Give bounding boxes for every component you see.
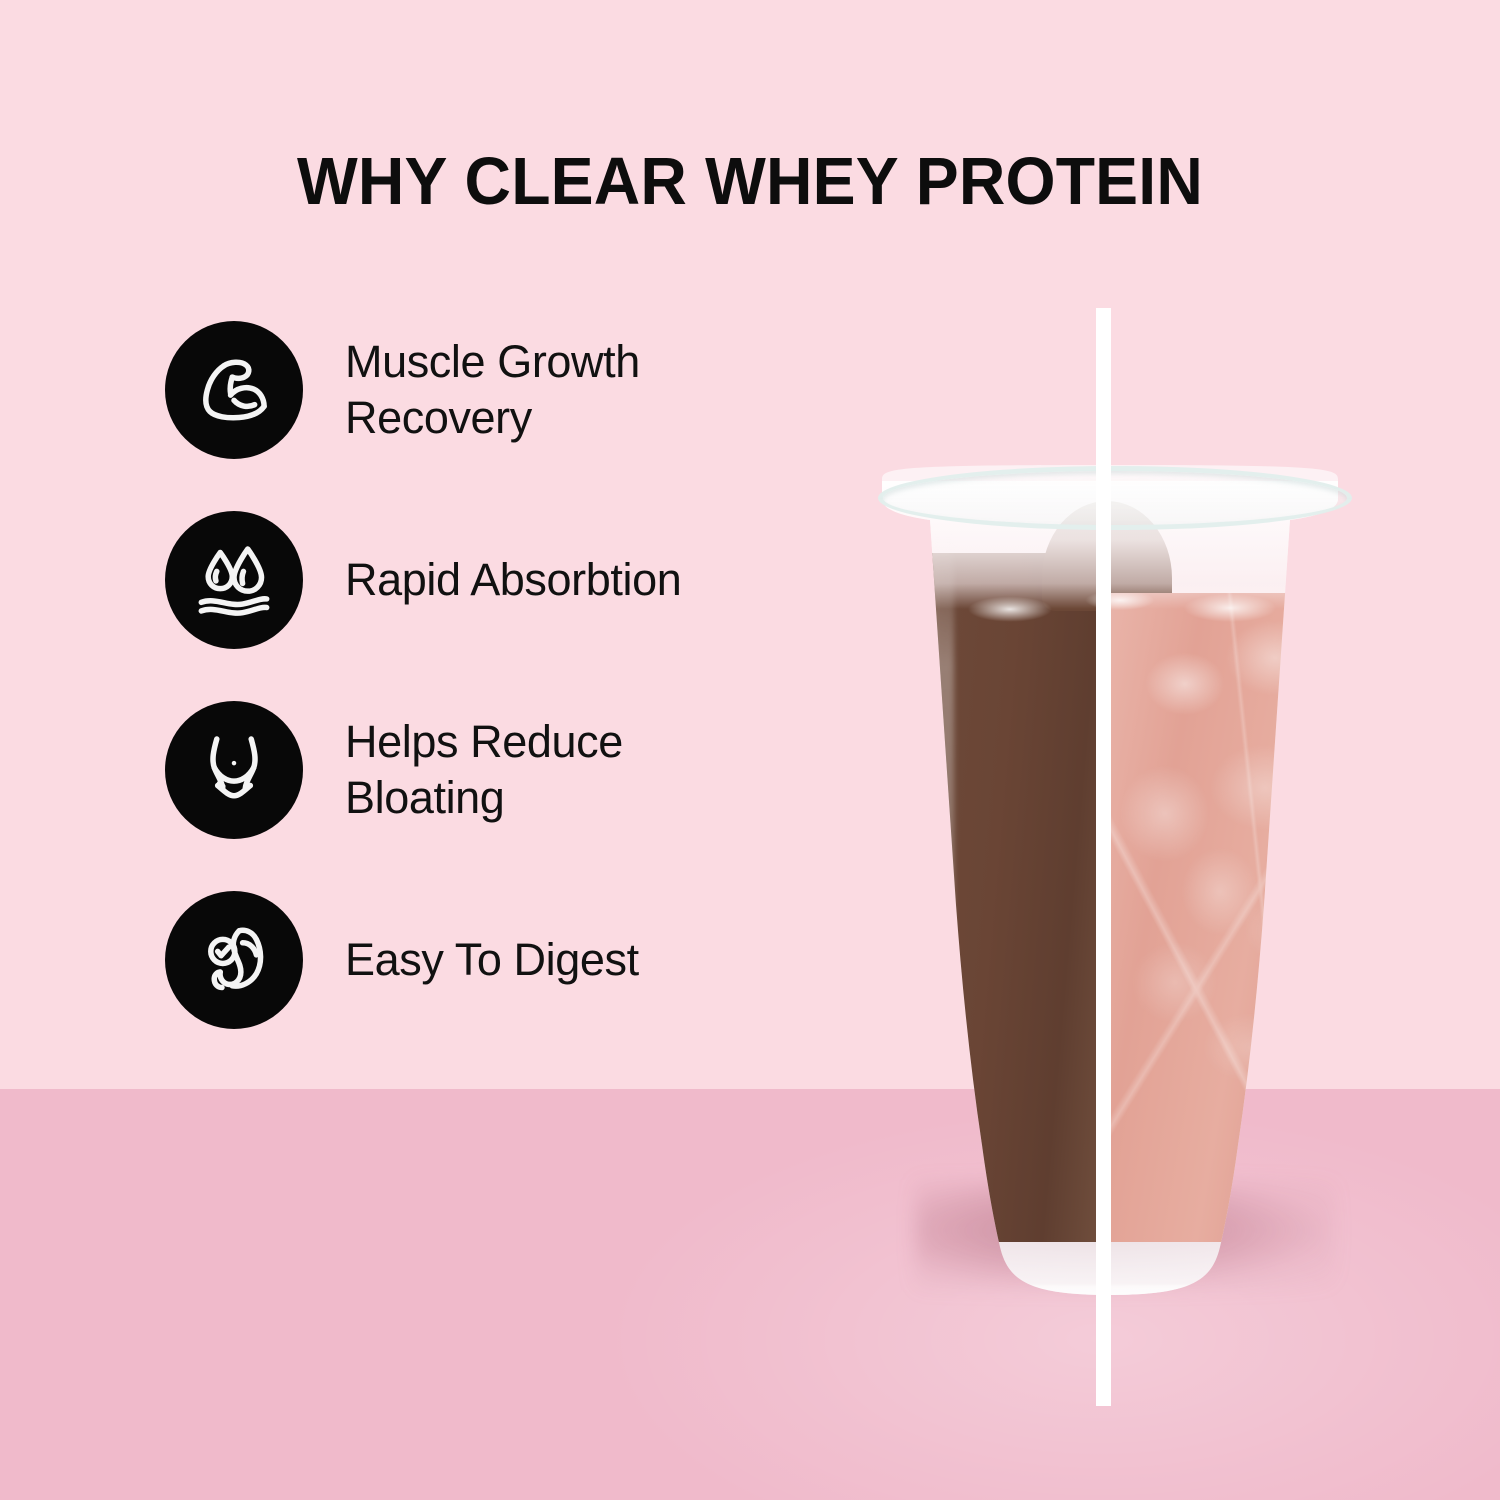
promo-graphic: WHY CLEAR WHEY PROTEIN Muscle Growth Rec…	[0, 0, 1500, 1500]
benefit-label: Rapid Absorbtion	[345, 552, 681, 608]
comparison-divider	[1096, 308, 1111, 1406]
water-droplets-absorption-icon	[165, 511, 303, 649]
flexed-biceps-icon	[165, 321, 303, 459]
stomach-check-icon	[165, 891, 303, 1029]
chocolate-shake-fill	[860, 553, 1110, 1242]
benefits-list: Muscle Growth Recovery Rapid Absorbtion	[165, 320, 785, 1030]
slim-waist-belly-icon	[165, 701, 303, 839]
benefit-item-easy-digest: Easy To Digest	[165, 890, 785, 1030]
benefit-label: Muscle Growth Recovery	[345, 334, 640, 447]
benefit-item-muscle-growth: Muscle Growth Recovery	[165, 320, 785, 460]
page-title: WHY CLEAR WHEY PROTEIN	[30, 148, 1470, 215]
glass-rim	[878, 466, 1352, 530]
ice-highlights	[1110, 593, 1360, 1242]
clear-whey-fill	[1110, 593, 1360, 1242]
glass-specular-highlight	[932, 535, 954, 1255]
benefit-label: Helps Reduce Bloating	[345, 714, 623, 827]
benefit-label: Easy To Digest	[345, 932, 639, 988]
benefit-item-rapid-absorbtion: Rapid Absorbtion	[165, 510, 785, 650]
benefit-item-reduce-bloating: Helps Reduce Bloating	[165, 700, 785, 840]
